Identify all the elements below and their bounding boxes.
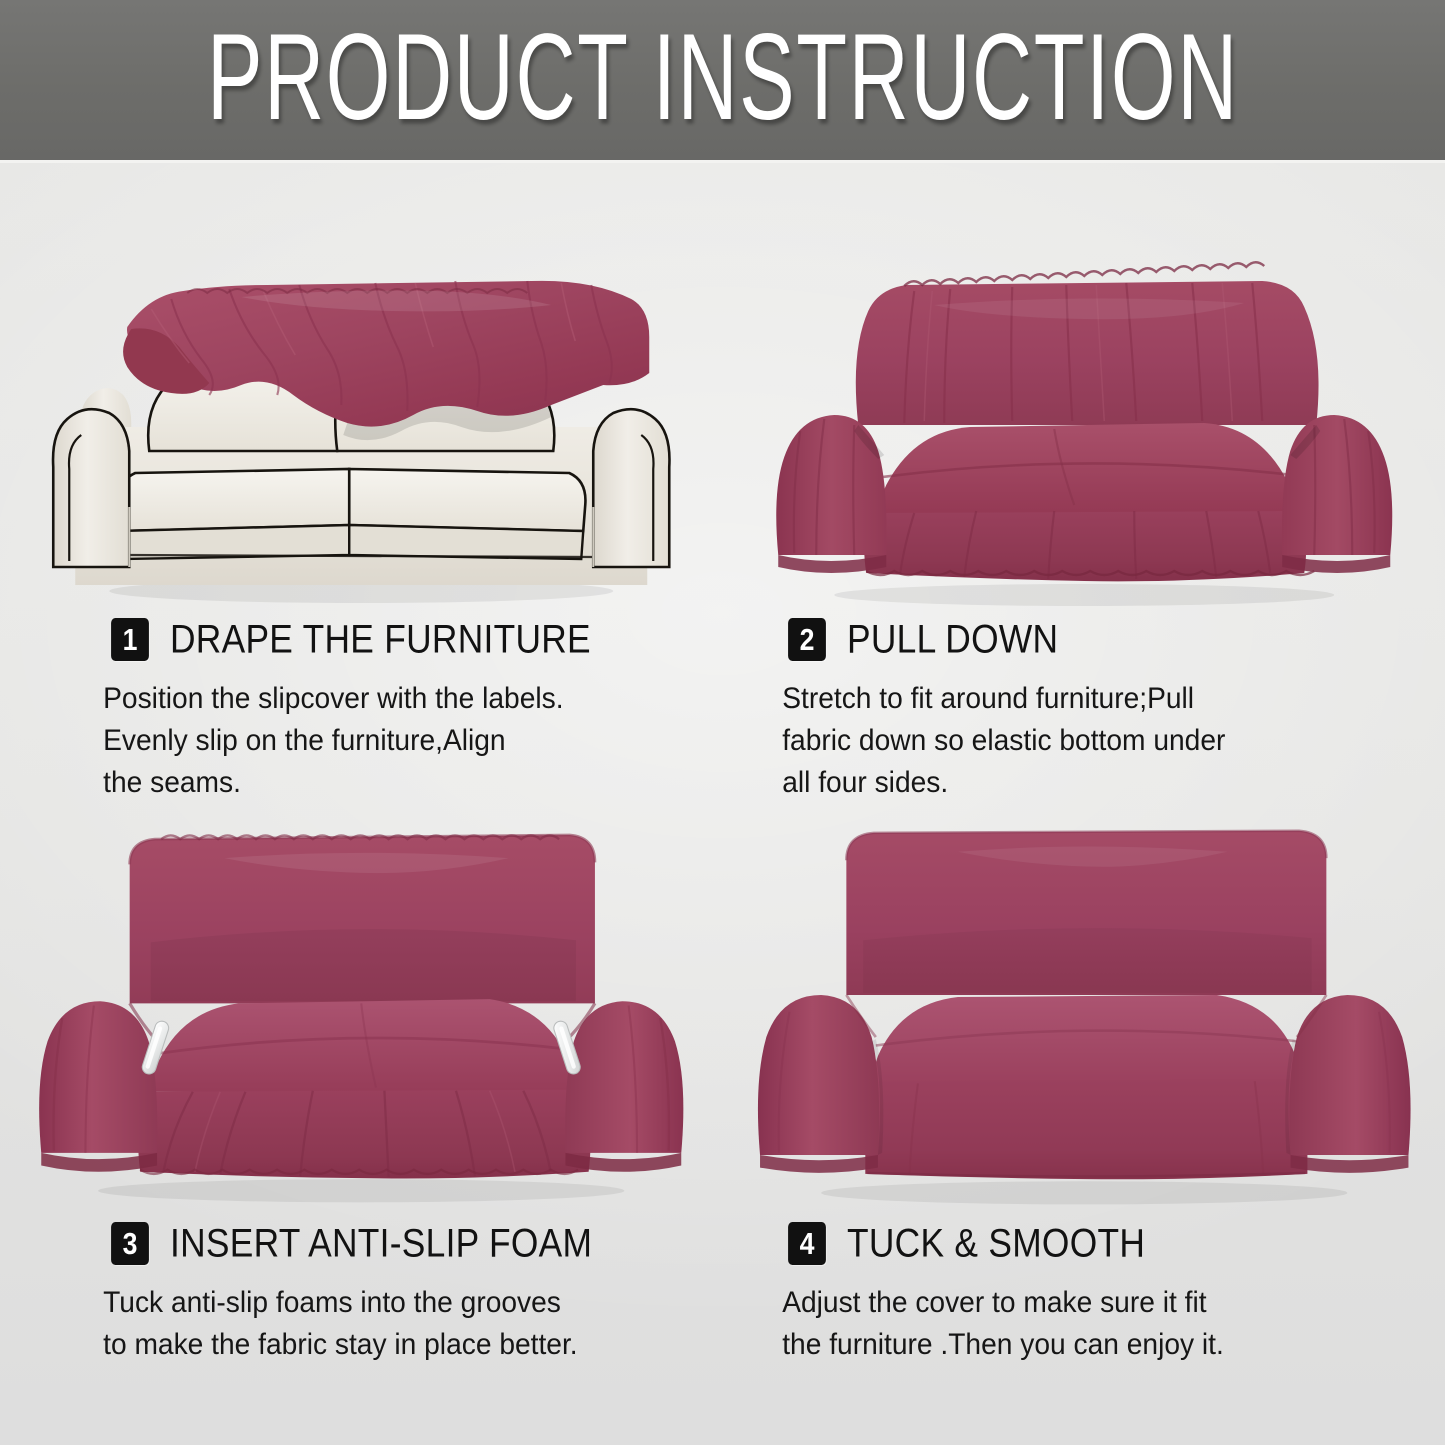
step-card-2: 2 PULL DOWN Stretch to fit around furnit…	[723, 163, 1445, 804]
step-card-1: 1 DRAPE THE FURNITURE Position the slipc…	[0, 163, 723, 804]
step-1-caption: 1 DRAPE THE FURNITURE Position the slipc…	[0, 618, 723, 804]
step-1-title: DRAPE THE FURNITURE	[170, 620, 591, 660]
step-3-heading: 3 INSERT ANTI-SLIP FOAM	[0, 1222, 723, 1265]
step-4-body: Adjust the cover to make sure it fit the…	[723, 1282, 1413, 1366]
step-2-body: Stretch to fit around furniture;Pull fab…	[723, 678, 1413, 804]
page-title: PRODUCT INSTRUCTION	[207, 16, 1239, 143]
step-number-badge-4: 4	[788, 1222, 826, 1265]
step-number-badge-2: 2	[788, 618, 826, 661]
step-4-illustration	[723, 816, 1445, 1216]
step-card-4: 4 TUCK & SMOOTH Adjust the cover to make…	[723, 804, 1445, 1445]
step-card-3: 3 INSERT ANTI-SLIP FOAM Tuck anti-slip f…	[0, 804, 723, 1445]
steps-grid: 1 DRAPE THE FURNITURE Position the slipc…	[0, 163, 1445, 1445]
step-2-title: PULL DOWN	[847, 620, 1058, 660]
step-3-caption: 3 INSERT ANTI-SLIP FOAM Tuck anti-slip f…	[0, 1222, 723, 1366]
step-number-badge-3: 3	[111, 1222, 149, 1265]
infographic-page: PRODUCT INSTRUCTION	[0, 0, 1445, 1445]
step-3-title: INSERT ANTI-SLIP FOAM	[170, 1224, 592, 1264]
step-4-caption: 4 TUCK & SMOOTH Adjust the cover to make…	[723, 1222, 1445, 1366]
step-number-badge-1: 1	[111, 618, 149, 661]
step-4-heading: 4 TUCK & SMOOTH	[723, 1222, 1445, 1265]
step-4-title: TUCK & SMOOTH	[847, 1224, 1145, 1264]
step-2-illustration	[723, 255, 1445, 615]
step-3-body: Tuck anti-slip foams into the grooves to…	[0, 1282, 690, 1366]
step-3-illustration	[0, 816, 723, 1216]
step-2-heading: 2 PULL DOWN	[723, 618, 1445, 661]
step-1-heading: 1 DRAPE THE FURNITURE	[0, 618, 723, 661]
header-bar: PRODUCT INSTRUCTION	[0, 0, 1445, 163]
step-2-caption: 2 PULL DOWN Stretch to fit around furnit…	[723, 618, 1445, 804]
step-1-body: Position the slipcover with the labels. …	[0, 678, 690, 804]
step-1-illustration	[0, 255, 723, 615]
